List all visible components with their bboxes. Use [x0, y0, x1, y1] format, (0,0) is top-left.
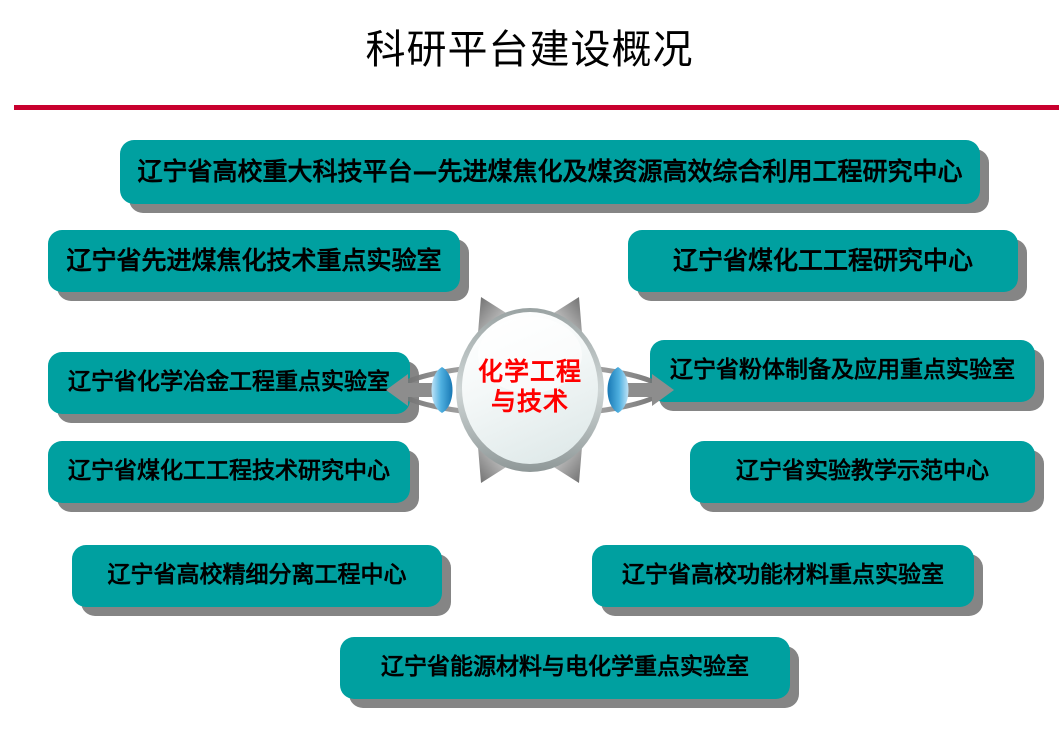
node-label: 辽宁省化学冶金工程重点实验室 [68, 370, 390, 395]
node-left-3[interactable]: 辽宁省煤化工工程技术研究中心 [48, 441, 410, 503]
node-body[interactable]: 辽宁省高校重大科技平台—先进煤焦化及煤资源高效综合利用工程研究中心 [120, 140, 980, 204]
node-right-4[interactable]: 辽宁省高校功能材料重点实验室 [592, 545, 974, 607]
node-right-3[interactable]: 辽宁省实验教学示范中心 [690, 441, 1035, 503]
node-label: 辽宁省实验教学示范中心 [736, 459, 989, 484]
title-divider [14, 105, 1059, 110]
node-label: 辽宁省先进煤焦化技术重点实验室 [66, 247, 441, 275]
node-right-2[interactable]: 辽宁省粉体制备及应用重点实验室 [650, 340, 1035, 402]
node-label: 辽宁省高校精细分离工程中心 [108, 563, 407, 588]
node-label: 辽宁省高校重大科技平台—先进煤焦化及煤资源高效综合利用工程研究中心 [137, 158, 962, 186]
node-bottom-platform[interactable]: 辽宁省能源材料与电化学重点实验室 [340, 637, 790, 699]
node-label: 辽宁省煤化工工程研究中心 [673, 247, 973, 275]
core-sphere [456, 308, 604, 472]
node-body[interactable]: 辽宁省高校精细分离工程中心 [72, 545, 442, 607]
node-label: 辽宁省粉体制备及应用重点实验室 [670, 358, 1015, 383]
node-body[interactable]: 辽宁省粉体制备及应用重点实验室 [650, 340, 1035, 402]
node-label: 辽宁省能源材料与电化学重点实验室 [381, 655, 749, 680]
node-left-2[interactable]: 辽宁省化学冶金工程重点实验室 [48, 352, 410, 414]
node-body[interactable]: 辽宁省实验教学示范中心 [690, 441, 1035, 503]
node-body[interactable]: 辽宁省高校功能材料重点实验室 [592, 545, 974, 607]
node-label: 辽宁省煤化工工程技术研究中心 [68, 459, 390, 484]
node-label: 辽宁省高校功能材料重点实验室 [622, 563, 944, 588]
node-body[interactable]: 辽宁省能源材料与电化学重点实验室 [340, 637, 790, 699]
center-radial-graphic [380, 275, 680, 505]
node-body[interactable]: 辽宁省煤化工工程技术研究中心 [48, 441, 410, 503]
node-top-platform[interactable]: 辽宁省高校重大科技平台—先进煤焦化及煤资源高效综合利用工程研究中心 [120, 140, 980, 204]
page-title: 科研平台建设概况 [0, 24, 1059, 76]
slide-canvas: 科研平台建设概况 [0, 0, 1059, 733]
node-body[interactable]: 辽宁省煤化工工程研究中心 [628, 230, 1018, 292]
node-right-1[interactable]: 辽宁省煤化工工程研究中心 [628, 230, 1018, 292]
node-body[interactable]: 辽宁省化学冶金工程重点实验室 [48, 352, 410, 414]
node-left-4[interactable]: 辽宁省高校精细分离工程中心 [72, 545, 442, 607]
